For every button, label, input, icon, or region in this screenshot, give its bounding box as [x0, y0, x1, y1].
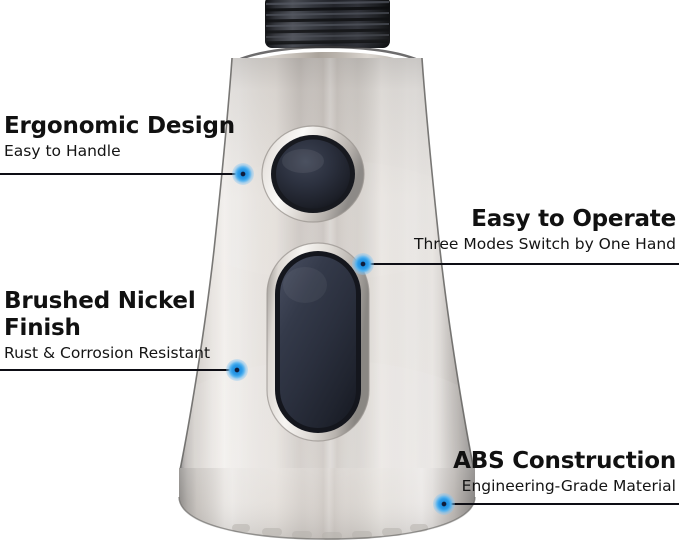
- callout-title-brushed-nickel: Brushed Nickel Finish: [4, 288, 210, 342]
- callout-subtitle-brushed-nickel: Rust & Corrosion Resistant: [4, 344, 210, 362]
- threaded-connector: [265, 0, 390, 48]
- leader-line-ergonomic: [0, 173, 243, 175]
- callout-title-abs-construction: ABS Construction: [453, 448, 676, 475]
- callout-subtitle-ergonomic: Easy to Handle: [4, 142, 235, 160]
- callout-title-ergonomic: Ergonomic Design: [4, 113, 235, 140]
- oval-button[interactable]: [267, 243, 369, 441]
- leader-line-abs-construction: [444, 503, 679, 505]
- infographic-canvas: Ergonomic Design Easy to Handle Brushed …: [0, 0, 679, 558]
- callout-ergonomic: Ergonomic Design Easy to Handle: [4, 113, 235, 160]
- round-button[interactable]: [262, 126, 364, 222]
- callout-dot-ergonomic[interactable]: [232, 163, 254, 185]
- callout-subtitle-abs-construction: Engineering-Grade Material: [453, 477, 676, 495]
- callout-subtitle-easy-to-operate: Three Modes Switch by One Hand: [414, 235, 676, 253]
- callout-dot-abs-construction[interactable]: [433, 493, 455, 515]
- leader-line-easy-to-operate: [363, 263, 679, 265]
- callout-brushed-nickel: Brushed Nickel Finish Rust & Corrosion R…: [4, 288, 210, 363]
- callout-dot-easy-to-operate[interactable]: [352, 253, 374, 275]
- callout-abs-construction: ABS Construction Engineering-Grade Mater…: [453, 448, 676, 495]
- callout-easy-to-operate: Easy to Operate Three Modes Switch by On…: [414, 206, 676, 253]
- callout-dot-brushed-nickel[interactable]: [226, 359, 248, 381]
- callout-title-easy-to-operate: Easy to Operate: [414, 206, 676, 233]
- leader-line-brushed-nickel: [0, 369, 237, 371]
